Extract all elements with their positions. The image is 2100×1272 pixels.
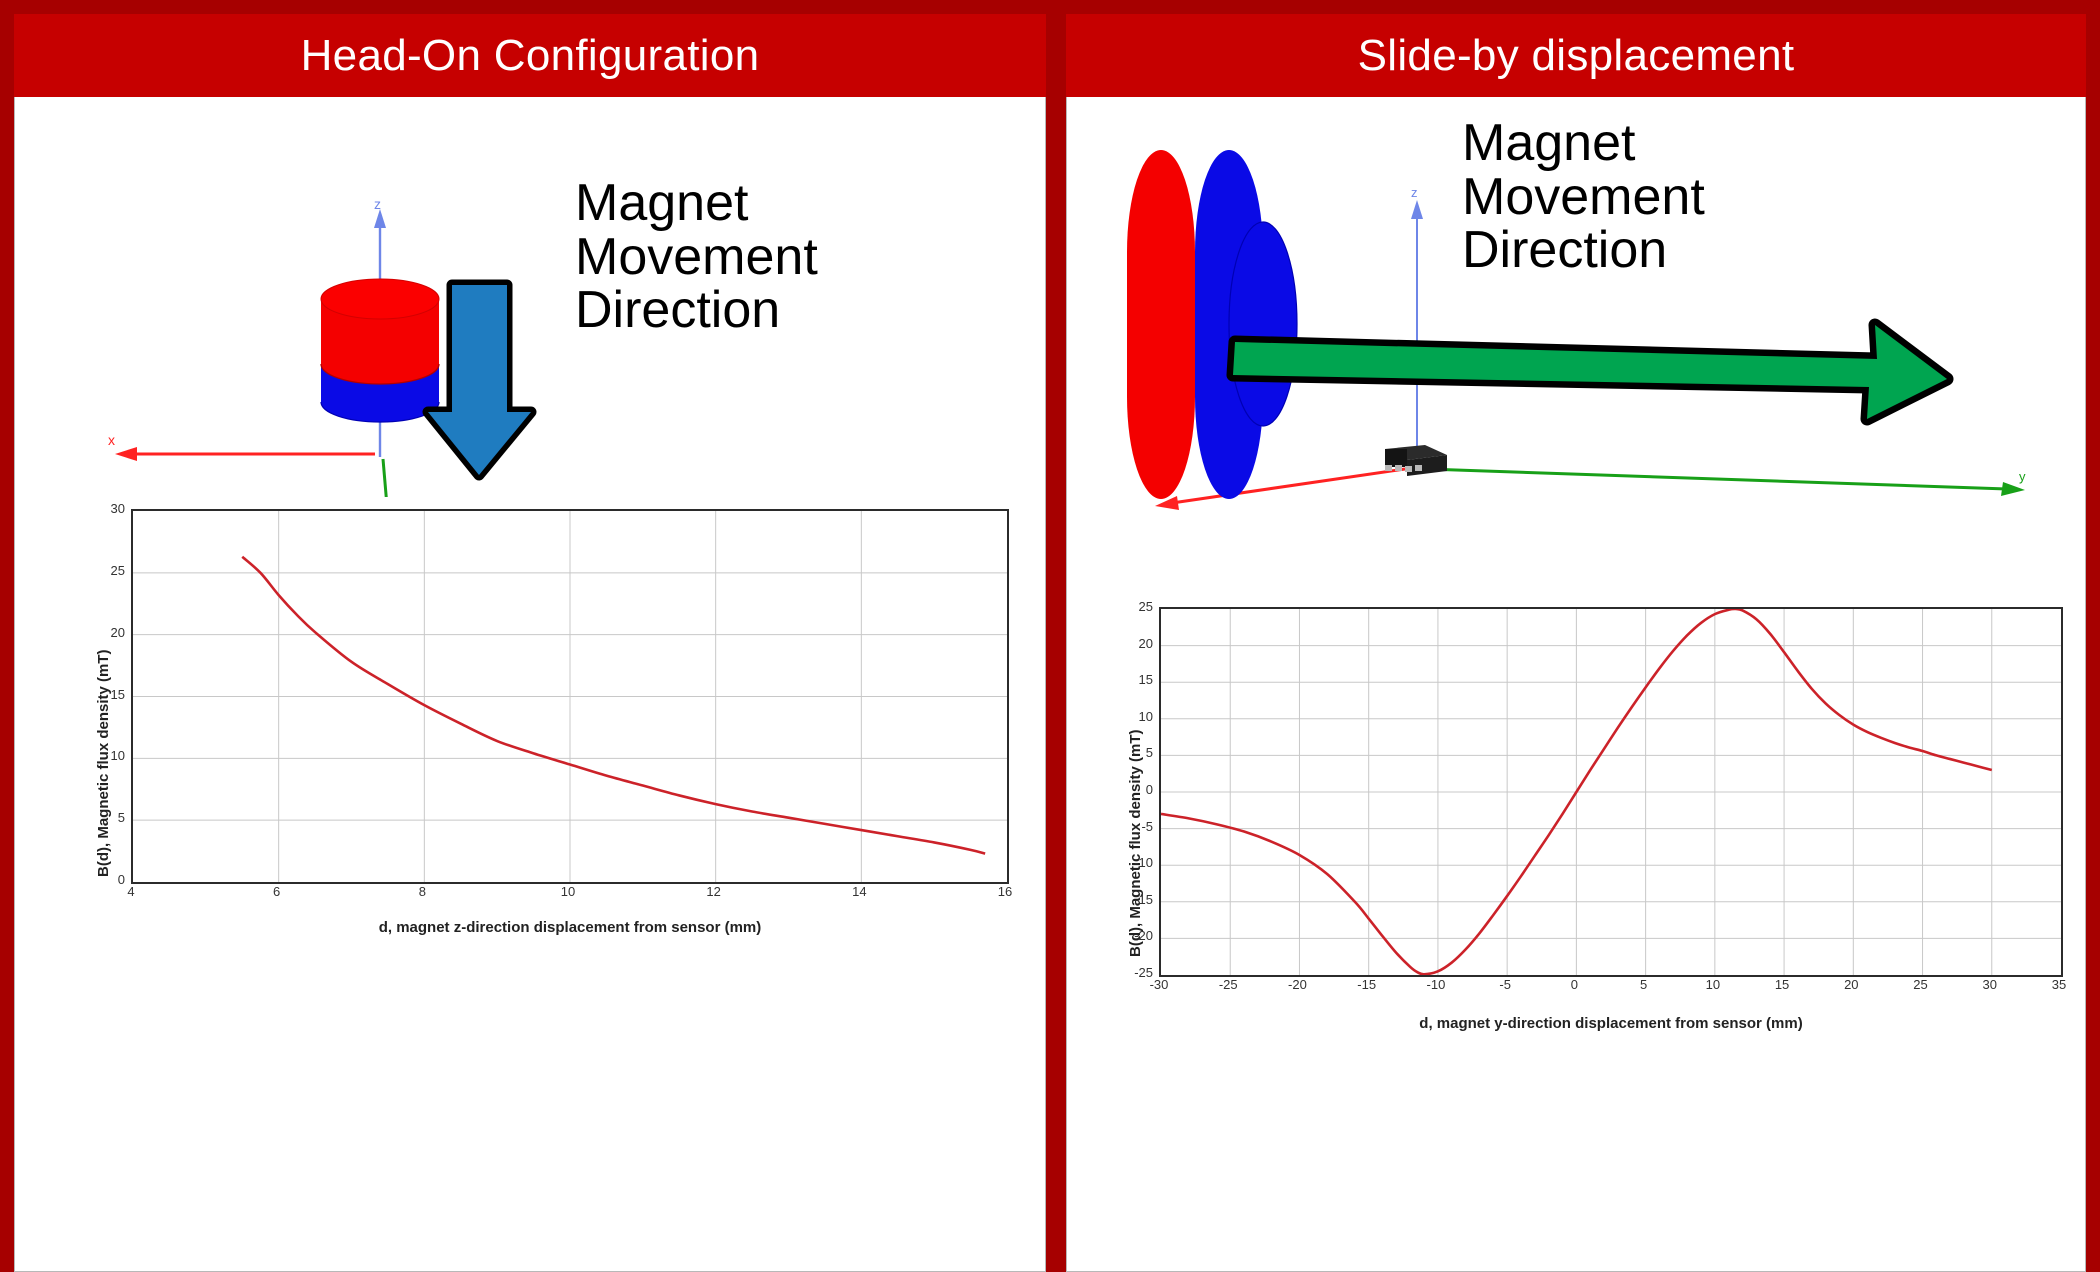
y-tick-label: 30 bbox=[91, 501, 125, 516]
y-tick-label: 20 bbox=[1119, 636, 1153, 651]
x-tick-label: 20 bbox=[1831, 977, 1871, 992]
chart-right-plot-area bbox=[1159, 607, 2063, 977]
y-tick-label: 25 bbox=[91, 563, 125, 578]
head-on-diagram: z x bbox=[15, 97, 1045, 497]
axis-label-z: z bbox=[374, 196, 381, 212]
x-tick-label: 8 bbox=[402, 884, 442, 899]
y-tick-label: -5 bbox=[1119, 819, 1153, 834]
x-tick-label: 30 bbox=[1970, 977, 2010, 992]
panel-body-head-on: z x bbox=[14, 97, 1046, 1272]
slide-by-chart: B(d), Magnetic flux density (mT) d, magn… bbox=[1067, 597, 2085, 1037]
x-tick-label: 5 bbox=[1624, 977, 1664, 992]
y-tick-label: -10 bbox=[1119, 855, 1153, 870]
axis-label-y: y bbox=[2019, 469, 2026, 484]
x-tick-label: -25 bbox=[1208, 977, 1248, 992]
slide-root: Head-On Configuration bbox=[0, 0, 2100, 1272]
y-tick-label: 10 bbox=[1119, 709, 1153, 724]
axis-label-z: z bbox=[1411, 185, 1418, 200]
axis-y bbox=[383, 459, 399, 497]
y-tick-label: 5 bbox=[91, 810, 125, 825]
panel-title-slide-by: Slide-by displacement bbox=[1066, 14, 2086, 97]
magnet-movement-label-right: Magnet Movement Direction bbox=[1462, 117, 1705, 278]
x-tick-label: -20 bbox=[1277, 977, 1317, 992]
cylinder-magnet bbox=[1127, 150, 1297, 499]
y-tick-label: 20 bbox=[91, 625, 125, 640]
x-tick-label: -5 bbox=[1485, 977, 1525, 992]
axis-y bbox=[1427, 469, 2025, 496]
axis-x bbox=[115, 447, 375, 461]
panel-body-slide-by: z y bbox=[1066, 97, 2086, 1272]
chart-right-xlabel: d, magnet y-direction displacement from … bbox=[1159, 1015, 2063, 1032]
magnet-movement-label-left: Magnet Movement Direction bbox=[575, 177, 818, 338]
chart-left-plot-area bbox=[131, 509, 1009, 884]
x-tick-label: 14 bbox=[839, 884, 879, 899]
magnet-movement-arrow bbox=[428, 285, 531, 475]
y-tick-label: 5 bbox=[1119, 745, 1153, 760]
x-tick-label: 15 bbox=[1762, 977, 1802, 992]
chart-right-ylabel: B(d), Magnetic flux density (mT) bbox=[1127, 729, 1144, 957]
x-tick-label: -10 bbox=[1416, 977, 1456, 992]
x-tick-label: 10 bbox=[548, 884, 588, 899]
cylinder-magnet bbox=[321, 279, 439, 422]
x-tick-label: 6 bbox=[257, 884, 297, 899]
x-tick-label: 12 bbox=[694, 884, 734, 899]
y-tick-label: 15 bbox=[1119, 672, 1153, 687]
axis-z bbox=[1411, 200, 1423, 452]
x-tick-label: 35 bbox=[2039, 977, 2079, 992]
magnet-movement-arrow bbox=[1233, 325, 1947, 419]
chart-left-xlabel: d, magnet z-direction displacement from … bbox=[131, 919, 1009, 936]
axis-x bbox=[1155, 469, 1405, 510]
x-tick-label: 10 bbox=[1693, 977, 1733, 992]
head-on-diagram-svg: z x bbox=[15, 97, 1045, 497]
y-tick-label: 0 bbox=[1119, 782, 1153, 797]
y-tick-label: -25 bbox=[1119, 965, 1153, 980]
y-tick-label: 0 bbox=[91, 872, 125, 887]
y-tick-label: 25 bbox=[1119, 599, 1153, 614]
x-tick-label: 16 bbox=[985, 884, 1025, 899]
y-tick-label: -15 bbox=[1119, 892, 1153, 907]
panel-slide-by: Slide-by displacement z y bbox=[1066, 14, 2086, 1272]
x-tick-label: -15 bbox=[1347, 977, 1387, 992]
x-tick-label: 0 bbox=[1554, 977, 1594, 992]
y-tick-label: -20 bbox=[1119, 928, 1153, 943]
x-tick-label: 25 bbox=[1901, 977, 1941, 992]
y-tick-label: 15 bbox=[91, 687, 125, 702]
head-on-chart: B(d), Magnetic flux density (mT) d, magn… bbox=[15, 497, 1045, 952]
axis-label-x: x bbox=[108, 432, 115, 448]
slide-by-diagram: z y bbox=[1067, 97, 2085, 597]
y-tick-label: 10 bbox=[91, 748, 125, 763]
panel-title-head-on: Head-On Configuration bbox=[14, 14, 1046, 97]
panel-head-on: Head-On Configuration bbox=[14, 14, 1046, 1272]
